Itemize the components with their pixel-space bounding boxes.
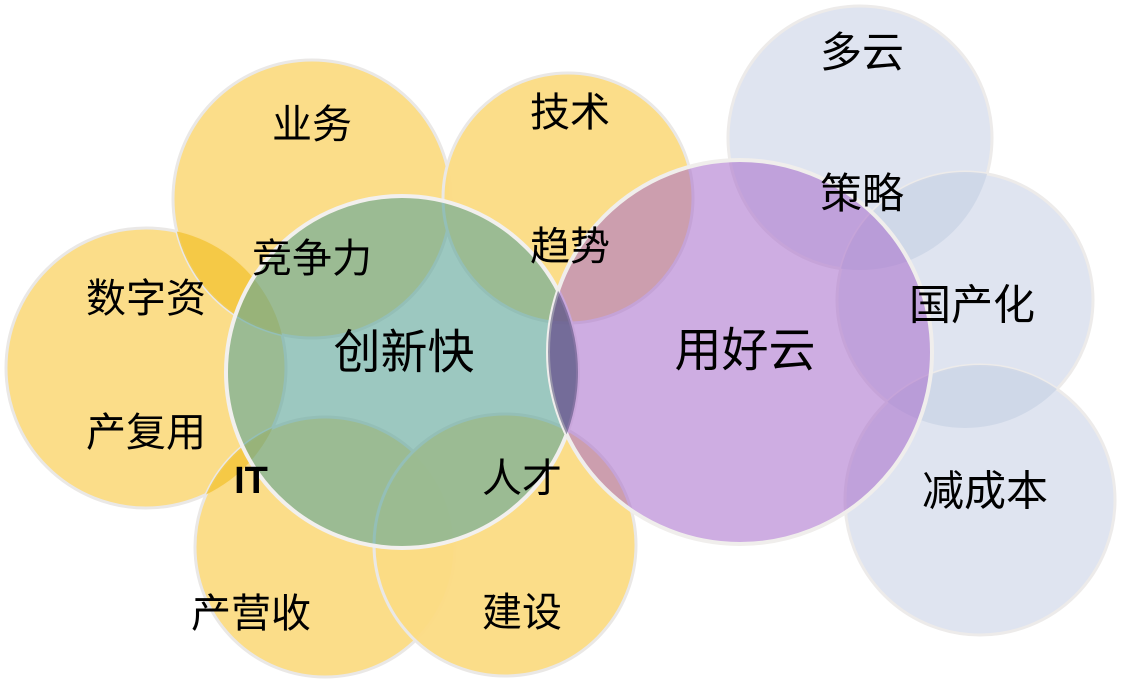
- circle-fast-innovation[interactable]: [226, 196, 578, 548]
- circle-use-cloud-well[interactable]: [548, 160, 932, 544]
- venn-circles-layer: [0, 0, 1129, 687]
- venn-diagram-canvas: 数字资 产复用 业务 竞争力 技术 趋势 IT 产营收 人才 建设 创新快 用好…: [0, 0, 1129, 687]
